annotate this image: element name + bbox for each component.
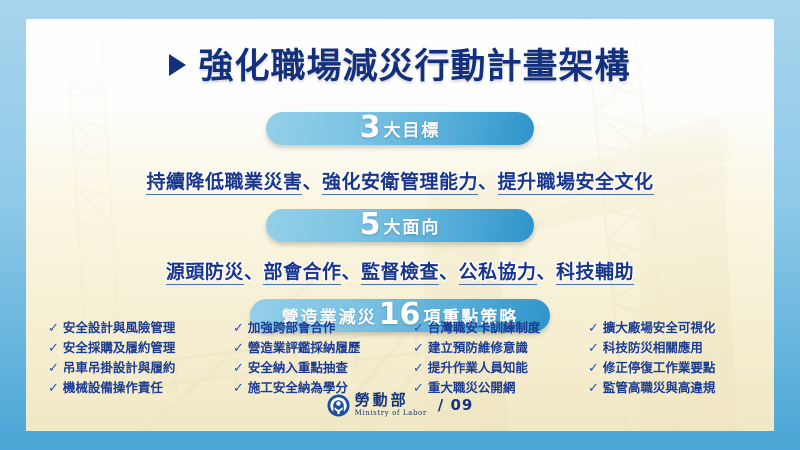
triangle-right-icon [169,54,186,76]
strategy-item: ✓ 科技防災相關應用 [588,339,752,358]
strategy-item: ✓ 台灣職安卡訓練制度 [413,319,588,338]
ministry-name-block: 勞動部 Ministry of Labor [355,393,427,417]
strategy-label: 安全設計與風險管理 [63,319,176,337]
page-title: 強化職場減災行動計畫架構 [198,38,630,89]
slide-canvas: 強化職場減災行動計畫架構 3 大目標 持續降低職業災害、強化安衛管理能力、提升職… [26,19,774,431]
strategy-item: ✓ 修正停復工作業要點 [588,359,752,378]
goal-item-2: 強化安衛管理能力 [322,171,478,195]
strategy-item: ✓ 加強跨部會合作 [233,319,413,338]
pill-aspects-label: 大面向 [383,213,440,238]
strategy-label: 建立預防維修意識 [428,339,528,357]
check-icon: ✓ [588,320,599,338]
ministry-of-labor-logo-icon [327,394,350,417]
strategy-label: 擴大廠場安全可視化 [603,319,716,337]
strategy-label: 安全採購及履約管理 [63,339,176,357]
pill-goals-number: 3 [360,113,381,143]
pill-goals: 3 大目標 [266,112,534,145]
check-icon: ✓ [48,360,59,378]
check-icon: ✓ [588,360,599,378]
goals-separator-1: 、 [302,171,322,193]
strategy-item: ✓ 安全設計與風險管理 [48,319,233,338]
check-icon: ✓ [233,320,244,338]
ministry-name-en: Ministry of Labor [355,410,427,417]
strategy-item: ✓ 安全納入重點抽查 [233,359,413,378]
aspect-item-3: 監督檢查 [361,261,439,285]
aspect-item-1: 源頭防災 [166,261,244,285]
strategy-label: 提升作業人員知能 [428,359,528,377]
check-icon: ✓ [233,360,244,378]
check-icon: ✓ [413,320,424,338]
check-icon: ✓ [48,320,59,338]
check-icon: ✓ [413,360,424,378]
strategy-label: 加強跨部會合作 [248,319,336,337]
aspects-separator-3: 、 [439,261,459,283]
aspect-item-2: 部會合作 [263,261,341,285]
strategy-item: ✓ 擴大廠場安全可視化 [588,319,752,338]
aspect-item-4: 公私協力 [459,261,537,285]
aspects-separator-2: 、 [341,261,361,283]
aspects-separator-4: 、 [537,261,557,283]
check-icon: ✓ [413,340,424,358]
strategy-item: ✓ 建立預防維修意識 [413,339,588,358]
strategy-item: ✓ 安全採購及履約管理 [48,339,233,358]
strategy-label: 吊車吊掛設計與履約 [63,359,176,377]
pill-aspects-number: 5 [360,210,381,240]
strategy-item: ✓ 提升作業人員知能 [413,359,588,378]
slide: 強化職場減災行動計畫架構 3 大目標 持續降低職業災害、強化安衛管理能力、提升職… [0,0,800,450]
aspects-separator-1: 、 [244,261,264,283]
check-icon: ✓ [588,340,599,358]
pill-goals-label: 大目標 [383,116,440,141]
strategy-label: 修正停復工作業要點 [603,359,716,377]
strategy-item: ✓ 營造業評鑑採納履歷 [233,339,413,358]
goals-line: 持續降低職業災害、強化安衛管理能力、提升職場安全文化 [26,167,774,194]
strategy-item: ✓ 吊車吊掛設計與履約 [48,359,233,378]
strategy-label: 安全納入重點抽查 [248,359,348,377]
ministry-name-zh: 勞動部 [355,393,427,408]
strategy-grid: ✓ 安全設計與風險管理 ✓ 加強跨部會合作 ✓ 台灣職安卡訓練制度 ✓ 擴大廠場… [48,319,752,398]
slide-content: 強化職場減災行動計畫架構 3 大目標 持續降低職業災害、強化安衛管理能力、提升職… [26,19,774,431]
check-icon: ✓ [48,340,59,358]
aspect-item-5: 科技輔助 [556,261,634,285]
page-number: / 09 [438,396,474,414]
check-icon: ✓ [233,340,244,358]
goals-separator-2: 、 [478,171,498,193]
goal-item-3: 提升職場安全文化 [498,171,654,195]
strategy-label: 台灣職安卡訓練制度 [428,319,541,337]
strategy-label: 營造業評鑑採納履歷 [248,339,361,357]
page-title-row: 強化職場減災行動計畫架構 [26,38,774,89]
pill-aspects: 5 大面向 [266,209,534,242]
strategy-label: 科技防災相關應用 [603,339,703,357]
goal-item-1: 持續降低職業災害 [146,171,302,195]
aspects-line: 源頭防災、部會合作、監督檢查、公私協力、科技輔助 [26,257,774,284]
footer: 勞動部 Ministry of Labor / 09 [26,393,774,417]
